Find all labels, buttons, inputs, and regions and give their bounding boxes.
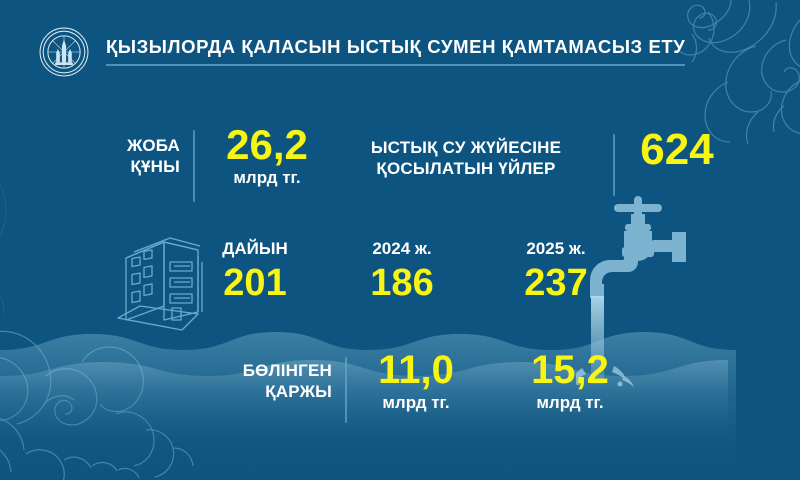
stats-row-1: ЖОБА ҚҰНЫ 26,2 млрд тг. ЫСТЫҚ СУ ЖҮЙЕСІН… [0, 128, 800, 206]
project-cost-value-block: 26,2 млрд тг. [206, 124, 328, 188]
allocated-funds-first-value: 11,0 [356, 351, 476, 390]
page-title: ҚЫЗЫЛОРДА ҚАЛАСЫН ЫСТЫҚ СУМЕН ҚАМТАМАСЫЗ… [106, 38, 685, 57]
year-2024-value: 186 [338, 265, 466, 302]
poster-header: ҚЫЗЫЛОРДА ҚАЛАСЫН ЫСТЫҚ СУМЕН ҚАМТАМАСЫЗ… [0, 0, 800, 104]
infographic-poster: ҚЫЗЫЛОРДА ҚАЛАСЫН ЫСТЫҚ СУМЕН ҚАМТАМАСЫЗ… [0, 0, 800, 480]
ready-caption: ДАЙЫН [196, 240, 314, 257]
project-cost-unit: млрд тг. [206, 169, 328, 188]
divider-connected-houses [613, 134, 615, 196]
year-2024-block: 2024 ж. 186 [338, 240, 466, 302]
allocated-funds-second-block: 15,2 млрд тг. [500, 351, 640, 413]
project-cost-value: 26,2 [206, 124, 328, 165]
connected-houses-label: ЫСТЫҚ СУ ЖҮЙЕСІНЕ ҚОСЫЛАТЫН ҮЙЛЕР [332, 138, 600, 179]
year-2024-caption: 2024 ж. [338, 240, 466, 257]
connected-houses-value-block: 624 [622, 128, 732, 171]
stats-row-2: ДАЙЫН 201 2024 ж. 186 2025 ж. 237 [0, 240, 800, 320]
divider-allocated-funds [345, 357, 347, 423]
ready-block: ДАЙЫН 201 [196, 240, 314, 302]
kyzylorda-city-emblem-icon [38, 26, 90, 78]
divider-project-cost [193, 130, 195, 202]
allocated-funds-second-value: 15,2 [500, 351, 640, 390]
allocated-funds-label: БӨЛІНГЕН ҚАРЖЫ [196, 361, 332, 402]
allocated-funds-second-unit: млрд тг. [500, 394, 640, 413]
allocated-funds-first-unit: млрд тг. [356, 394, 476, 413]
connected-houses-value: 624 [622, 128, 732, 171]
title-underline [106, 64, 685, 66]
stats-row-3: БӨЛІНГЕН ҚАРЖЫ 11,0 млрд тг. 15,2 млрд т… [0, 355, 800, 433]
year-2025-block: 2025 ж. 237 [492, 240, 620, 302]
title-block: ҚЫЗЫЛОРДА ҚАЛАСЫН ЫСТЫҚ СУМЕН ҚАМТАМАСЫЗ… [106, 38, 685, 66]
year-2025-caption: 2025 ж. [492, 240, 620, 257]
project-cost-label: ЖОБА ҚҰНЫ [78, 136, 180, 177]
ready-value: 201 [196, 265, 314, 302]
allocated-funds-first-block: 11,0 млрд тг. [356, 351, 476, 413]
year-2025-value: 237 [492, 265, 620, 302]
